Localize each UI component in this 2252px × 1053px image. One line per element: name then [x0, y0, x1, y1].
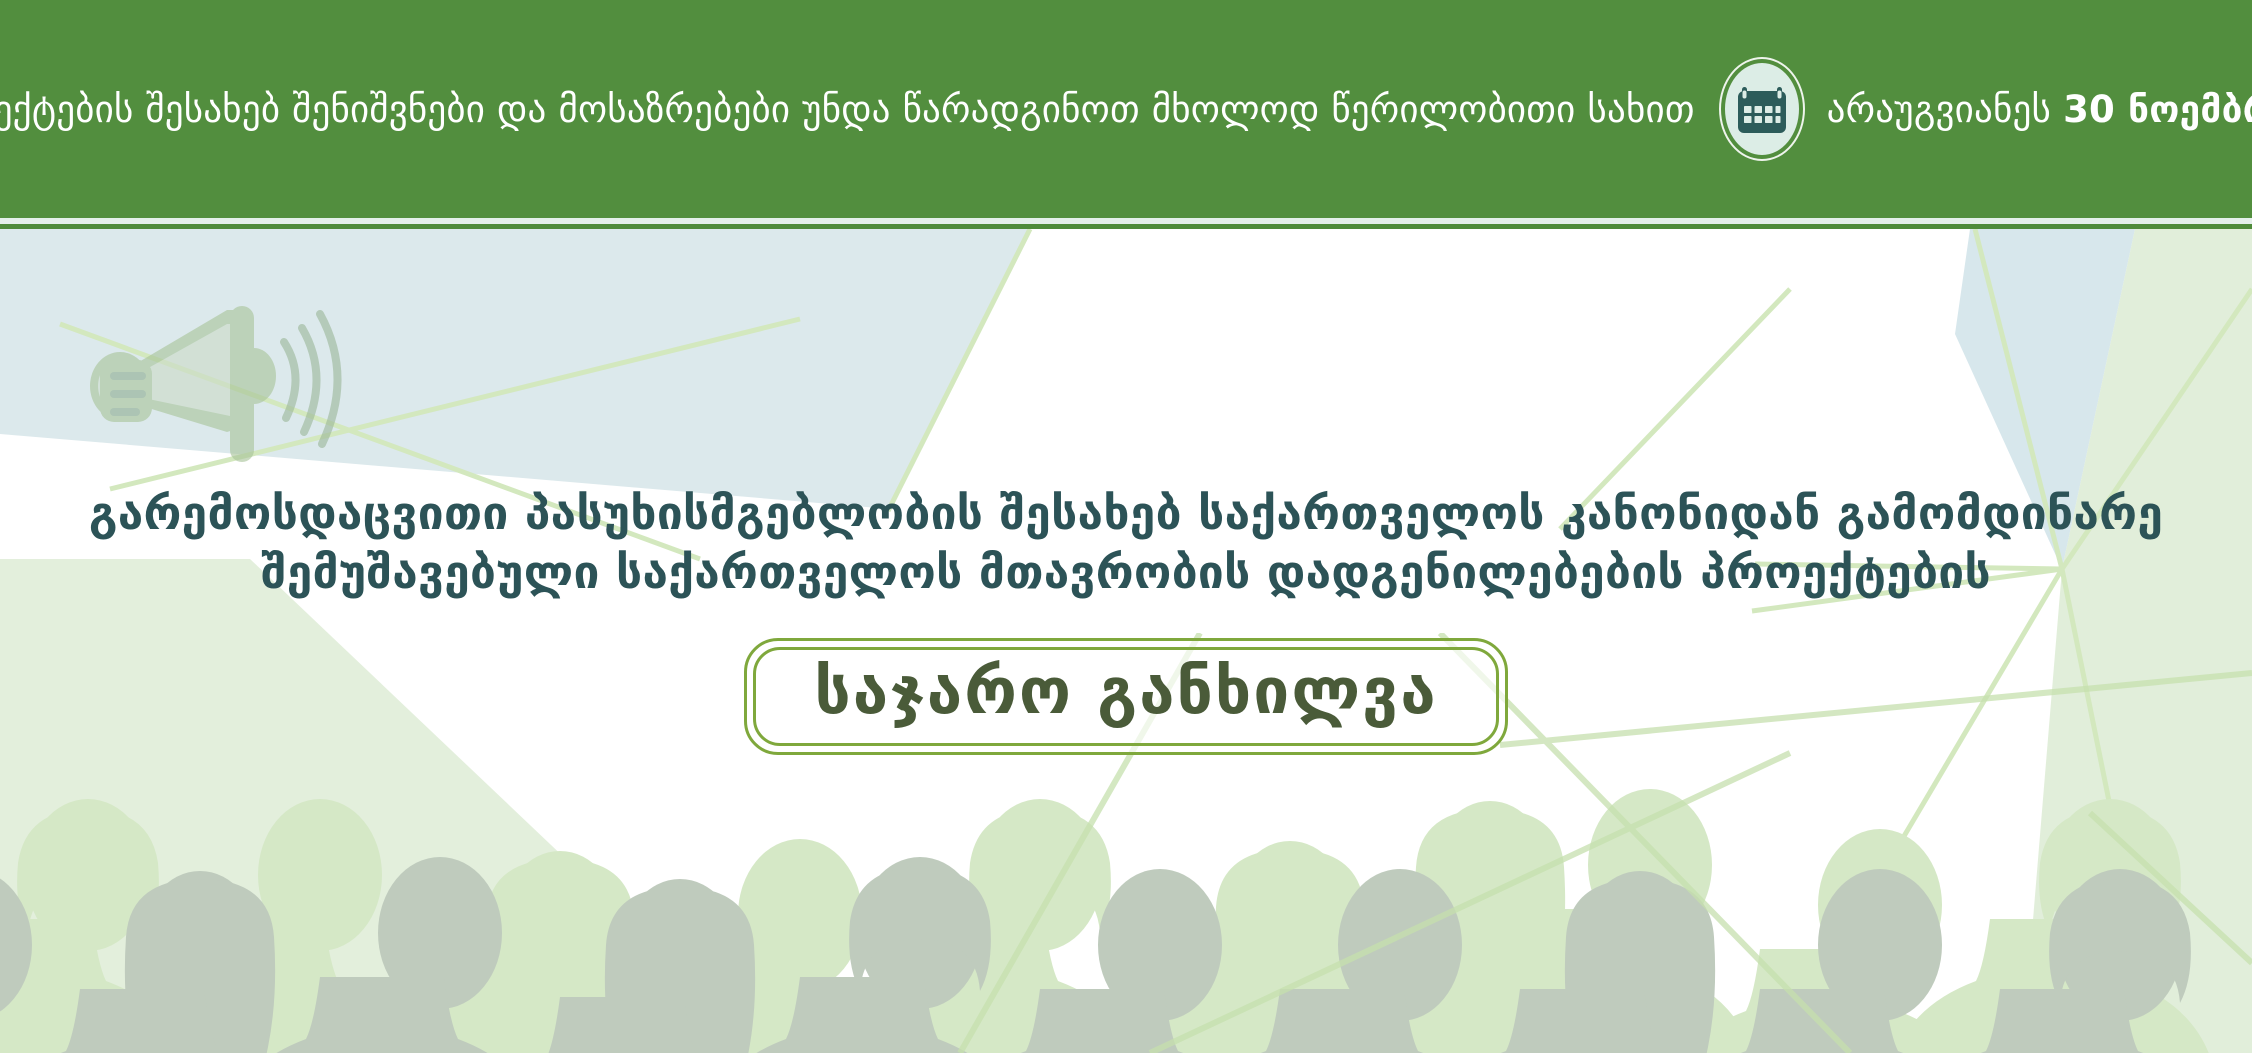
cta-outer-frame: საჯარო განხილვა	[744, 638, 1507, 755]
hero-title: გარემოსდაცვითი პასუხისმგებლობის შესახებ …	[0, 484, 2252, 602]
calendar-icon	[1736, 83, 1788, 135]
public-discussion-banner: პროექტების შესახებ შენიშვნები და მოსაზრე…	[0, 0, 2252, 1053]
hero-title-line-1: გარემოსდაცვითი პასუხისმგებლობის შესახებ …	[0, 484, 2252, 543]
cta-label: საჯარო განხილვა	[814, 658, 1437, 727]
calendar-badge	[1719, 57, 1805, 161]
megaphone-sound-waves	[284, 314, 338, 444]
header-bar: პროექტების შესახებ შენიშვნები და მოსაზრე…	[0, 0, 2252, 218]
megaphone-icon	[62, 280, 362, 470]
header-deadline-prefix: არაუგვიანეს	[1827, 91, 2051, 128]
header-instruction-text: პროექტების შესახებ შენიშვნები და მოსაზრე…	[0, 91, 1695, 128]
decor-polygon-green-left	[0, 559, 770, 1053]
cta-container: საჯარო განხილვა	[0, 638, 2252, 755]
header-deadline-date: 30 ნოემბრისა	[2063, 91, 2252, 128]
cta-inner-frame: საჯარო განხილვა	[753, 647, 1498, 746]
header-underline	[0, 224, 2252, 229]
hero-title-line-2: შემუშავებული საქართველოს მთავრობის დადგე…	[0, 543, 2252, 602]
